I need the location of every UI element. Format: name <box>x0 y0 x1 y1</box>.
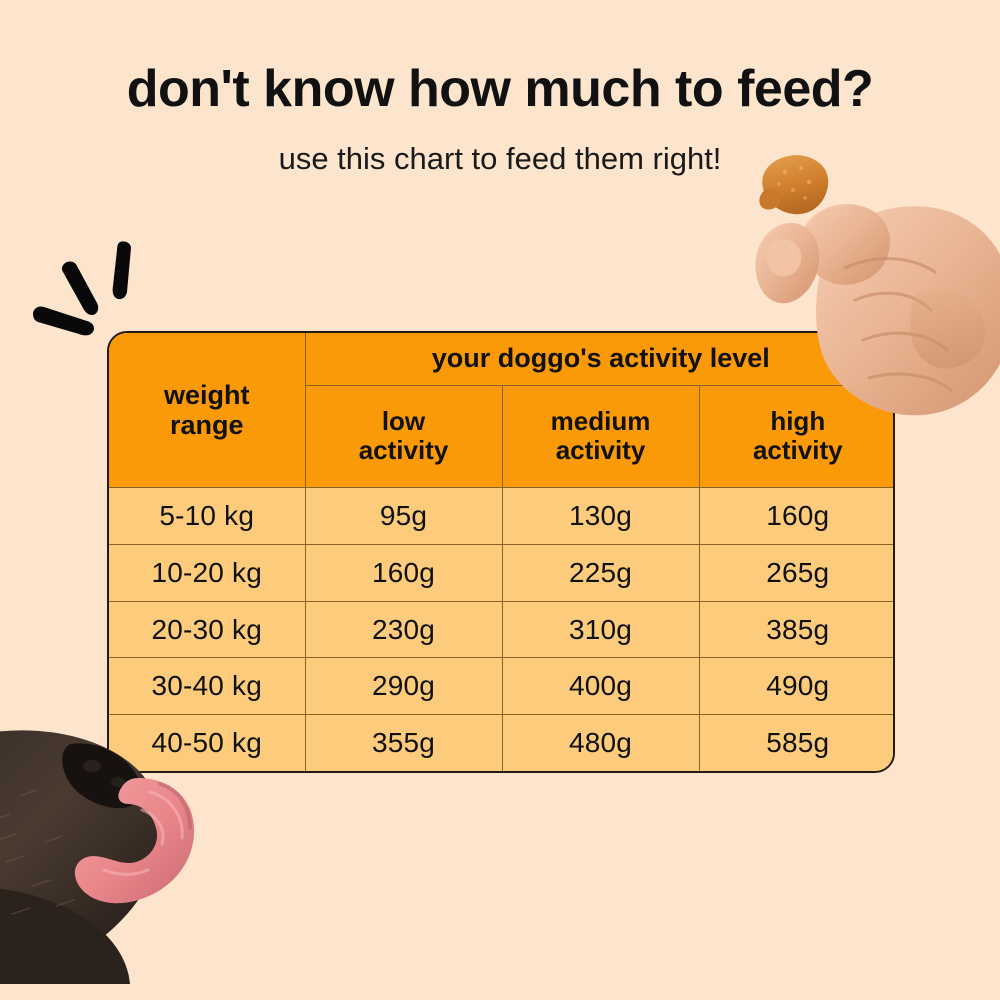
cell-low-4: 355g <box>305 715 502 771</box>
cell-high-2: 385g <box>699 601 895 658</box>
header-medium-activity-line1: medium <box>503 407 699 436</box>
cell-medium-3: 400g <box>502 658 699 715</box>
header-high-activity-line2: activity <box>700 436 896 465</box>
dog-licking-image <box>0 700 252 1000</box>
cell-low-0: 95g <box>305 487 502 544</box>
row-weight-1: 10-20 kg <box>109 544 305 601</box>
row-weight-0: 5-10 kg <box>109 487 305 544</box>
table-row: 20-30 kg 230g 310g 385g <box>109 601 895 658</box>
cell-high-1: 265g <box>699 544 895 601</box>
header-weight-range-line1: weight <box>109 380 305 410</box>
hand-holding-treat-image <box>735 150 1000 420</box>
table-row: 10-20 kg 160g 225g 265g <box>109 544 895 601</box>
cell-low-2: 230g <box>305 601 502 658</box>
cell-low-1: 160g <box>305 544 502 601</box>
cell-high-4: 585g <box>699 715 895 771</box>
header-low-activity: low activity <box>305 385 502 487</box>
cell-high-0: 160g <box>699 487 895 544</box>
cell-high-3: 490g <box>699 658 895 715</box>
cell-medium-2: 310g <box>502 601 699 658</box>
cell-low-3: 290g <box>305 658 502 715</box>
header-weight-range: weight range <box>109 333 305 487</box>
table-row: 5-10 kg 95g 130g 160g <box>109 487 895 544</box>
header-medium-activity: medium activity <box>502 385 699 487</box>
cell-medium-1: 225g <box>502 544 699 601</box>
header-medium-activity-line2: activity <box>503 436 699 465</box>
cell-medium-0: 130g <box>502 487 699 544</box>
cell-medium-4: 480g <box>502 715 699 771</box>
header-low-activity-line2: activity <box>306 436 502 465</box>
header-low-activity-line1: low <box>306 407 502 436</box>
infographic-canvas: don't know how much to feed? use this ch… <box>0 0 1000 1000</box>
header-weight-range-line2: range <box>109 410 305 440</box>
dog-treat-icon <box>759 155 828 214</box>
row-weight-2: 20-30 kg <box>109 601 305 658</box>
page-title: don't know how much to feed? <box>0 62 1000 117</box>
